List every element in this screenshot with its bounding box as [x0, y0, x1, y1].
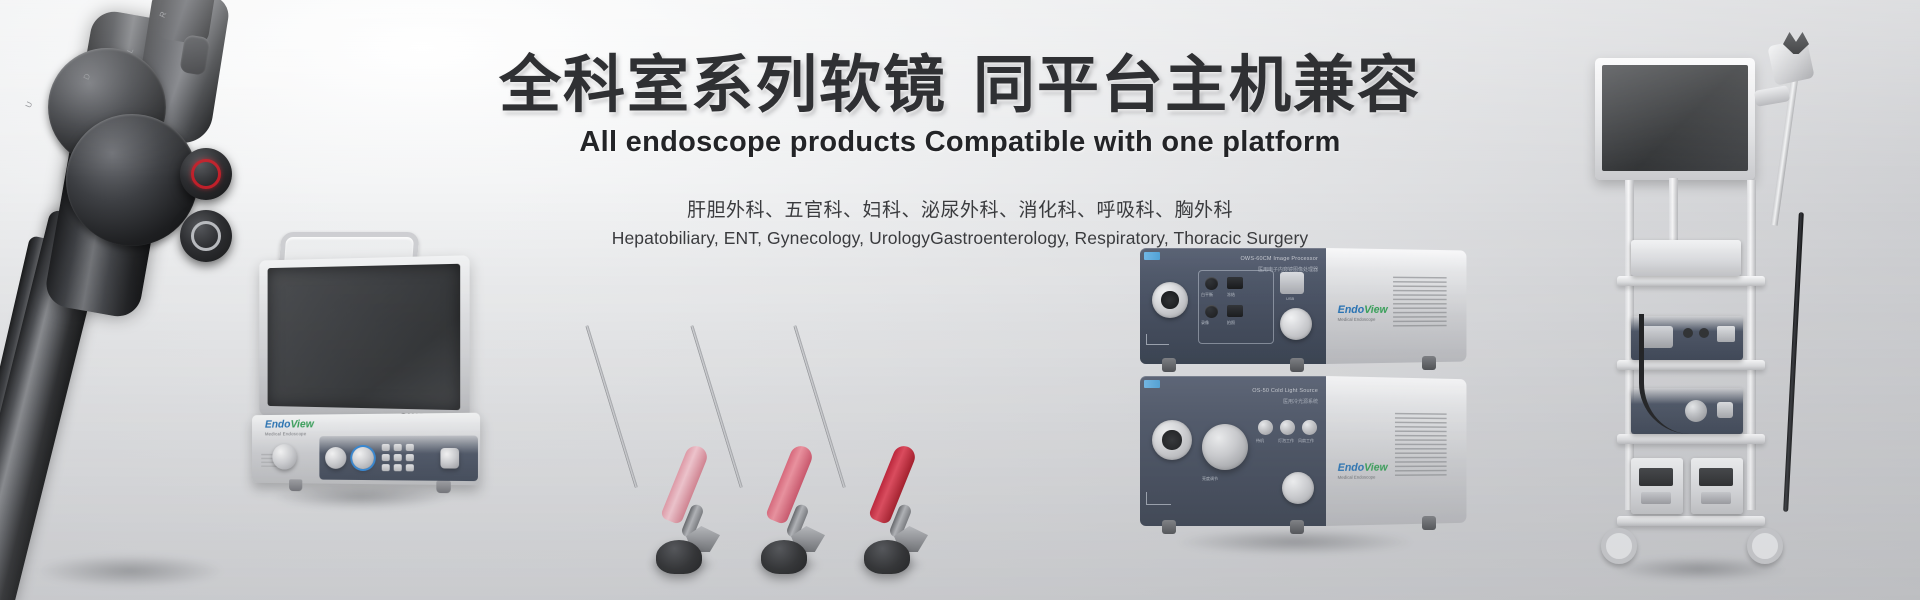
cart-unit-port-2[interactable] [1717, 402, 1733, 418]
workstation-button-7[interactable] [382, 464, 390, 471]
image-processor-label-white-balance: 白平衡 [1201, 292, 1213, 298]
image-processor-foot-left [1162, 358, 1176, 372]
workstation-power-button[interactable] [440, 448, 459, 469]
workstation-base-unit: EndoView Medical Endoscope [252, 413, 480, 486]
light-source-button-standby[interactable] [1258, 420, 1273, 435]
brand-text-a: Endo [1338, 304, 1364, 316]
image-processor-button-freeze[interactable] [1227, 277, 1243, 289]
scope-rod-1 [585, 325, 637, 488]
workstation-knob-1[interactable] [325, 447, 346, 469]
light-source-button-lamp[interactable] [1280, 420, 1295, 435]
image-processor-button-group: 白平衡 冻结 录像 拍照 [1198, 270, 1274, 344]
image-processor-foot-right [1290, 358, 1304, 372]
image-processor-graphic-mark [1146, 334, 1169, 345]
cart-unit-accessory-right [1691, 458, 1743, 514]
scope-stand-2 [761, 540, 807, 574]
product-banner: 全科室系列软镜同平台主机兼容 All endoscope products Co… [0, 0, 1920, 600]
workstation-display-bezel: OWS-100 All-in-one Workstation [259, 255, 469, 420]
cart-accessory-tray-right [1701, 492, 1731, 504]
cart-scope-insertion-tube [1783, 212, 1804, 512]
workstation-display-screen [268, 264, 461, 410]
cold-light-source-unit: EndoView Medical Endoscope OS-50 Cold Li… [1140, 376, 1476, 526]
brand-text-a: Endo [265, 419, 291, 431]
cart-unit-knob-2[interactable] [1699, 328, 1709, 338]
workstation-brand-logo: EndoView [265, 418, 314, 430]
page-title: 全科室系列软镜同平台主机兼容 [0, 52, 1920, 118]
image-processor-vent [1393, 277, 1447, 328]
rigid-scope-3 [838, 318, 958, 580]
light-source-foot-right [1290, 520, 1304, 534]
image-processor-foot-rear [1422, 356, 1436, 370]
image-processor-button-record[interactable] [1205, 305, 1218, 318]
workstation-foot-left [289, 479, 302, 491]
light-source-output-port[interactable] [1152, 420, 1192, 460]
image-processor-unit: EndoView Medical Endoscope OWS-60CM Imag… [1140, 248, 1476, 364]
workstation-scope-port[interactable] [272, 444, 296, 469]
workstation-foot-right [436, 481, 450, 493]
specialty-list: 肝胆外科、五官科、妇科、泌尿外科、消化科、呼吸科、胸外科 Hepatobilia… [0, 195, 1920, 249]
brand-text-b: View [1364, 462, 1387, 474]
workstation-button-5[interactable] [394, 454, 402, 461]
image-processor-status-indicator [1144, 252, 1160, 260]
image-processor-model-label: OWS-60CM Image Processor [1232, 256, 1318, 262]
workstation-button-4[interactable] [382, 454, 390, 461]
image-processor-label-record: 录像 [1201, 320, 1209, 326]
light-source-model-label: OS-50 Cold Light Source [1226, 388, 1318, 394]
image-processor-usb-label: USB [1286, 296, 1294, 301]
banner-text-block: 全科室系列软镜同平台主机兼容 All endoscope products Co… [0, 52, 1920, 249]
cart-unit-port-1[interactable] [1717, 326, 1735, 342]
image-processor-scope-port[interactable] [1152, 282, 1188, 318]
light-source-brightness-dial[interactable] [1202, 424, 1248, 470]
light-source-dial-label: 亮度调节 [1202, 476, 1218, 482]
light-source-status-indicator [1144, 380, 1160, 388]
workstation-button-6[interactable] [406, 454, 414, 461]
title-cn-part1: 全科室系列软镜 [499, 48, 947, 121]
image-processor-label-capture: 拍照 [1227, 320, 1235, 326]
workstation-brand-tagline: Medical Endoscope [265, 431, 306, 436]
ows-100-monitor-workstation: OWS-100 All-in-one Workstation EndoView … [232, 232, 502, 494]
brand-text-b: View [1364, 304, 1387, 316]
light-source-brand: EndoView [1338, 462, 1388, 474]
cart-unit-accessory-left [1631, 458, 1683, 514]
light-source-foot-left [1162, 520, 1176, 534]
light-source-button-fan[interactable] [1302, 420, 1317, 435]
image-processor-brand: EndoView [1338, 304, 1388, 316]
specialty-list-en: Hepatobiliary, ENT, Gynecology, UrologyG… [0, 228, 1920, 249]
light-source-graphic-mark [1146, 492, 1171, 505]
scope-stand-1 [656, 540, 702, 574]
light-source-power-button[interactable] [1282, 472, 1314, 504]
rigid-scope-2 [735, 318, 855, 580]
cart-wheel-left [1601, 528, 1637, 564]
light-source-label-fan: 风扇工作 [1298, 438, 1314, 444]
light-source-label-standby: 待机 [1256, 438, 1264, 444]
image-processor-side-panel: EndoView Medical Endoscope [1326, 248, 1466, 364]
brand-text-b: View [291, 418, 314, 430]
cart-shelf-1 [1617, 276, 1765, 286]
image-processor-usb-port[interactable] [1280, 272, 1304, 294]
page-subtitle: All endoscope products Compatible with o… [0, 126, 1920, 159]
image-processor-power-button[interactable] [1280, 308, 1312, 340]
cart-shelf-4 [1617, 516, 1765, 526]
workstation-button-8[interactable] [394, 464, 402, 471]
cart-shelf-3 [1617, 434, 1765, 444]
light-source-model-cn: 医用冷光源系统 [1226, 398, 1318, 405]
image-processor-front-panel: OWS-60CM Image Processor 医用电子内窥镜图像处理器 白平… [1140, 248, 1326, 364]
brand-text-a: Endo [1338, 462, 1364, 474]
scope-stand-3 [864, 540, 910, 574]
image-processor-button-white-balance[interactable] [1205, 277, 1218, 290]
host-console-stack: EndoView Medical Endoscope OWS-60CM Imag… [1140, 248, 1490, 548]
workstation-knob-2[interactable] [352, 447, 374, 469]
image-processor-label-freeze: 冻结 [1227, 292, 1235, 298]
cart-wheel-right [1747, 528, 1783, 564]
light-source-side-panel: EndoView Medical Endoscope [1326, 376, 1466, 526]
cart-accessory-screen-left [1639, 468, 1673, 486]
workstation-button-1[interactable] [382, 444, 390, 451]
image-processor-brand-tagline: Medical Endoscope [1338, 317, 1376, 322]
cart-accessory-screen-right [1699, 468, 1733, 486]
light-source-front-panel: OS-50 Cold Light Source 医用冷光源系统 亮度调节 待机 … [1140, 376, 1326, 526]
rigid-scope-1 [630, 318, 750, 580]
title-cn-part2: 同平台主机兼容 [973, 48, 1421, 121]
specialty-list-cn: 肝胆外科、五官科、妇科、泌尿外科、消化科、呼吸科、胸外科 [0, 195, 1920, 222]
image-processor-button-capture[interactable] [1227, 305, 1243, 317]
light-source-brand-tagline: Medical Endoscope [1338, 475, 1376, 480]
workstation-button-2[interactable] [394, 444, 402, 451]
light-source-vent [1395, 413, 1447, 478]
cart-accessory-tray-left [1641, 492, 1671, 504]
light-source-foot-rear [1422, 516, 1436, 530]
workstation-button-9[interactable] [406, 464, 414, 471]
workstation-control-panel [319, 436, 478, 482]
workstation-button-3[interactable] [406, 444, 414, 451]
light-source-label-lamp: 灯泡工作 [1278, 438, 1294, 444]
